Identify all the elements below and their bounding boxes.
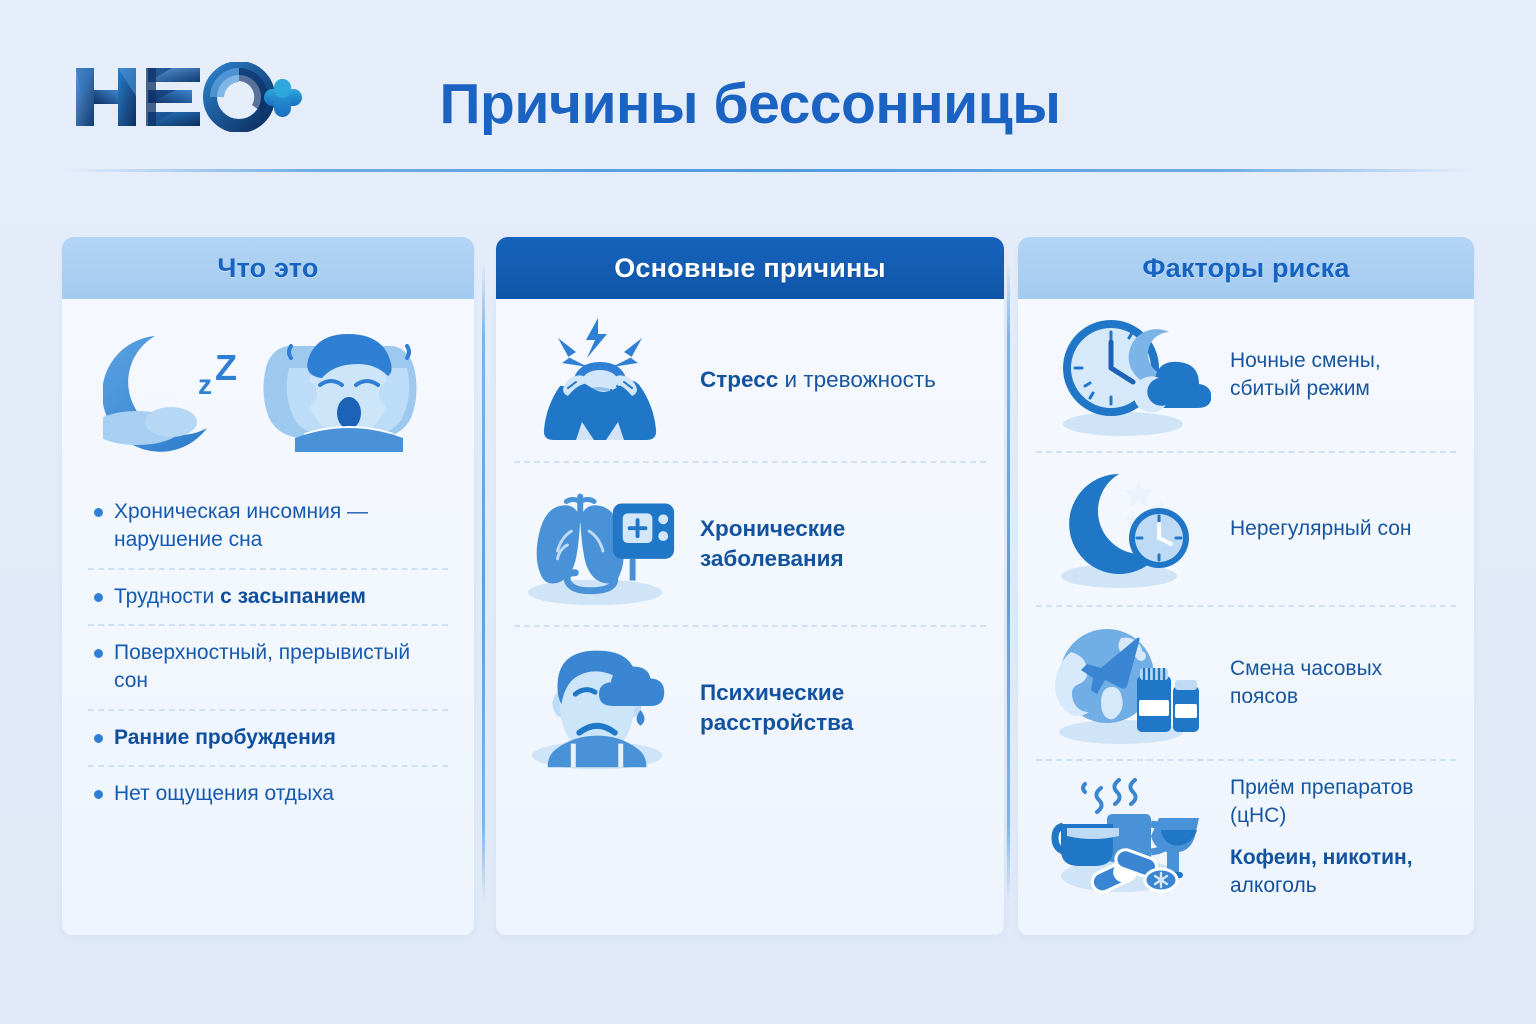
stressed-head-lightning-icon xyxy=(516,306,684,454)
card-what-is-it: Что это z Z xyxy=(62,237,474,935)
list-item: Трудности с засыпанием xyxy=(88,570,448,626)
card-risk-factors: Факторы риска xyxy=(1018,237,1474,935)
list-item-label-bold: Ранние пробуждения xyxy=(114,726,336,749)
cause-item-stress: Стресс и тревожность xyxy=(514,299,986,463)
yawning-person-in-bed-icon xyxy=(263,334,416,452)
list-item: Хроническая инсомния — нарушение сна xyxy=(88,485,448,570)
risk-label: Приём препаратов (цНС) Кофеин, никотин,а… xyxy=(1230,774,1454,900)
column-header-risk-factors: Факторы риска xyxy=(1018,237,1474,299)
header-divider xyxy=(62,169,1474,172)
cause-label-bold: Психические расстройства xyxy=(700,680,853,735)
cause-label: Психические расстройства xyxy=(700,678,984,738)
cause-label: Стресс и тревожность xyxy=(700,365,936,395)
risk-item-irregular-sleep: Нерегулярный сон xyxy=(1036,453,1456,607)
risk-label: Нерегулярный сон xyxy=(1230,515,1411,543)
list-item: Нет ощущения отдыха xyxy=(88,767,448,821)
globe-plane-pills-icon xyxy=(1038,613,1214,753)
page-title: Причины бессонницы xyxy=(370,58,1130,150)
moon-stars-clock-icon xyxy=(1038,459,1214,599)
lungs-blood-pressure-monitor-icon xyxy=(516,470,684,618)
column-separator-left xyxy=(482,261,485,901)
risk-item-substances: Приём препаратов (цНС) Кофеин, никотин,а… xyxy=(1036,761,1456,913)
bullet-dot-icon xyxy=(94,593,103,602)
risk-label-line1: Нерегулярный сон xyxy=(1230,517,1411,540)
brand-logo xyxy=(72,62,302,132)
bullet-dot-icon xyxy=(94,734,103,743)
risk-label: Ночные смены, сбитый режим xyxy=(1230,347,1381,403)
column-separator-right xyxy=(1007,261,1010,901)
risk-label-line2: Кофеин, никотин, xyxy=(1230,846,1413,869)
cause-label: Хронические заболевания xyxy=(700,514,984,574)
list-item-label: Нет ощущения отдыха xyxy=(114,782,334,805)
risk-item-timezone-change: Смена часовых поясов xyxy=(1036,607,1456,761)
risk-label-line1: Ночные смены, xyxy=(1230,349,1381,372)
bullet-dot-icon xyxy=(94,649,103,658)
symptom-list: Хроническая инсомния — нарушение сна Тру… xyxy=(80,485,456,821)
list-item-label: Хроническая инсомния — нарушение сна xyxy=(114,500,368,551)
coffee-wine-pills-icon xyxy=(1038,767,1214,907)
risk-item-night-shifts: Ночные смены, сбитый режим xyxy=(1036,299,1456,453)
svg-text:z: z xyxy=(198,369,212,400)
moon-zzz-icon: z Z xyxy=(103,336,237,452)
list-item-label: Поверхностный, прерывистый сон xyxy=(114,641,410,692)
bullet-dot-icon xyxy=(94,790,103,799)
clock-moon-icon xyxy=(1038,305,1214,445)
sad-person-rain-cloud-icon xyxy=(516,634,684,782)
cause-label-bold: Стресс xyxy=(700,367,778,392)
cause-item-chronic-disease: Хронические заболевания xyxy=(514,463,986,627)
risk-label-line2-group: Кофеин, никотин,алкоголь xyxy=(1230,844,1454,900)
card-main-causes: Основные причины xyxy=(496,237,1004,935)
risk-label-line1b: сбитый режим xyxy=(1230,377,1370,400)
cause-item-mental-disorder: Психические расстройства xyxy=(514,627,986,789)
risk-label-line2b: алкоголь xyxy=(1230,874,1317,897)
risk-label: Смена часовых поясов xyxy=(1230,655,1454,711)
svg-text:Z: Z xyxy=(215,347,237,388)
cause-label-bold: Хронические заболевания xyxy=(700,516,845,571)
column-header-main-causes: Основные причины xyxy=(496,237,1004,299)
list-item-label: Трудности xyxy=(114,585,220,608)
list-item: Ранние пробуждения xyxy=(88,711,448,767)
bullet-dot-icon xyxy=(94,508,103,517)
cause-label-rest: и тревожность xyxy=(778,367,936,392)
risk-label-line1: Смена часовых поясов xyxy=(1230,657,1382,708)
columns-area: Что это z Z xyxy=(0,237,1536,937)
risk-label-line1: Приём препаратов (цНС) xyxy=(1230,776,1413,827)
list-item-label-bold: с засыпанием xyxy=(220,585,366,608)
list-item: Поверхностный, прерывистый сон xyxy=(88,626,448,711)
hero-illustration-sleep: z Z xyxy=(80,299,456,485)
column-header-what-is-it: Что это xyxy=(62,237,474,299)
page-header: Причины бессонницы xyxy=(0,0,1536,172)
